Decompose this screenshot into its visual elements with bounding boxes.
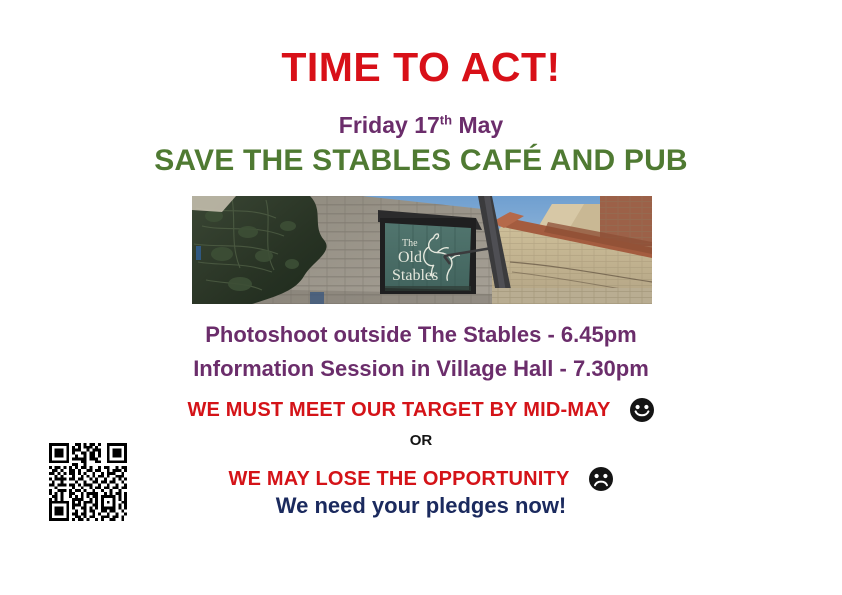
event-date: Friday 17th May	[0, 112, 842, 139]
warning-target-text: WE MUST MEET OUR TARGET BY MID-MAY	[187, 399, 610, 422]
warning-target-row: WE MUST MEET OUR TARGET BY MID-MAY	[0, 397, 842, 423]
smiley-face-icon	[629, 397, 655, 423]
stables-photo: The Old Stables	[192, 196, 652, 304]
warning-lose-text: WE MAY LOSE THE OPPORTUNITY	[229, 468, 570, 491]
stables-photo-image: The Old Stables	[192, 196, 652, 304]
poster-canvas: TIME TO ACT! Friday 17th May SAVE THE ST…	[0, 0, 842, 595]
event-date-prefix: Friday 17	[339, 112, 440, 138]
svg-text:The: The	[402, 238, 418, 249]
svg-text:Stables: Stables	[392, 267, 438, 284]
svg-text:Old: Old	[398, 249, 422, 266]
sad-face-icon	[588, 466, 614, 492]
page-title: TIME TO ACT!	[0, 44, 842, 91]
detail-information-session: Information Session in Village Hall - 7.…	[0, 356, 842, 382]
qr-code[interactable]	[46, 440, 130, 524]
page-subtitle: SAVE THE STABLES CAFÉ AND PUB	[0, 144, 842, 178]
detail-photoshoot: Photoshoot outside The Stables - 6.45pm	[0, 322, 842, 348]
event-date-ordinal: th	[440, 112, 452, 127]
qr-code-image[interactable]	[46, 440, 130, 524]
event-date-suffix: May	[452, 112, 503, 138]
